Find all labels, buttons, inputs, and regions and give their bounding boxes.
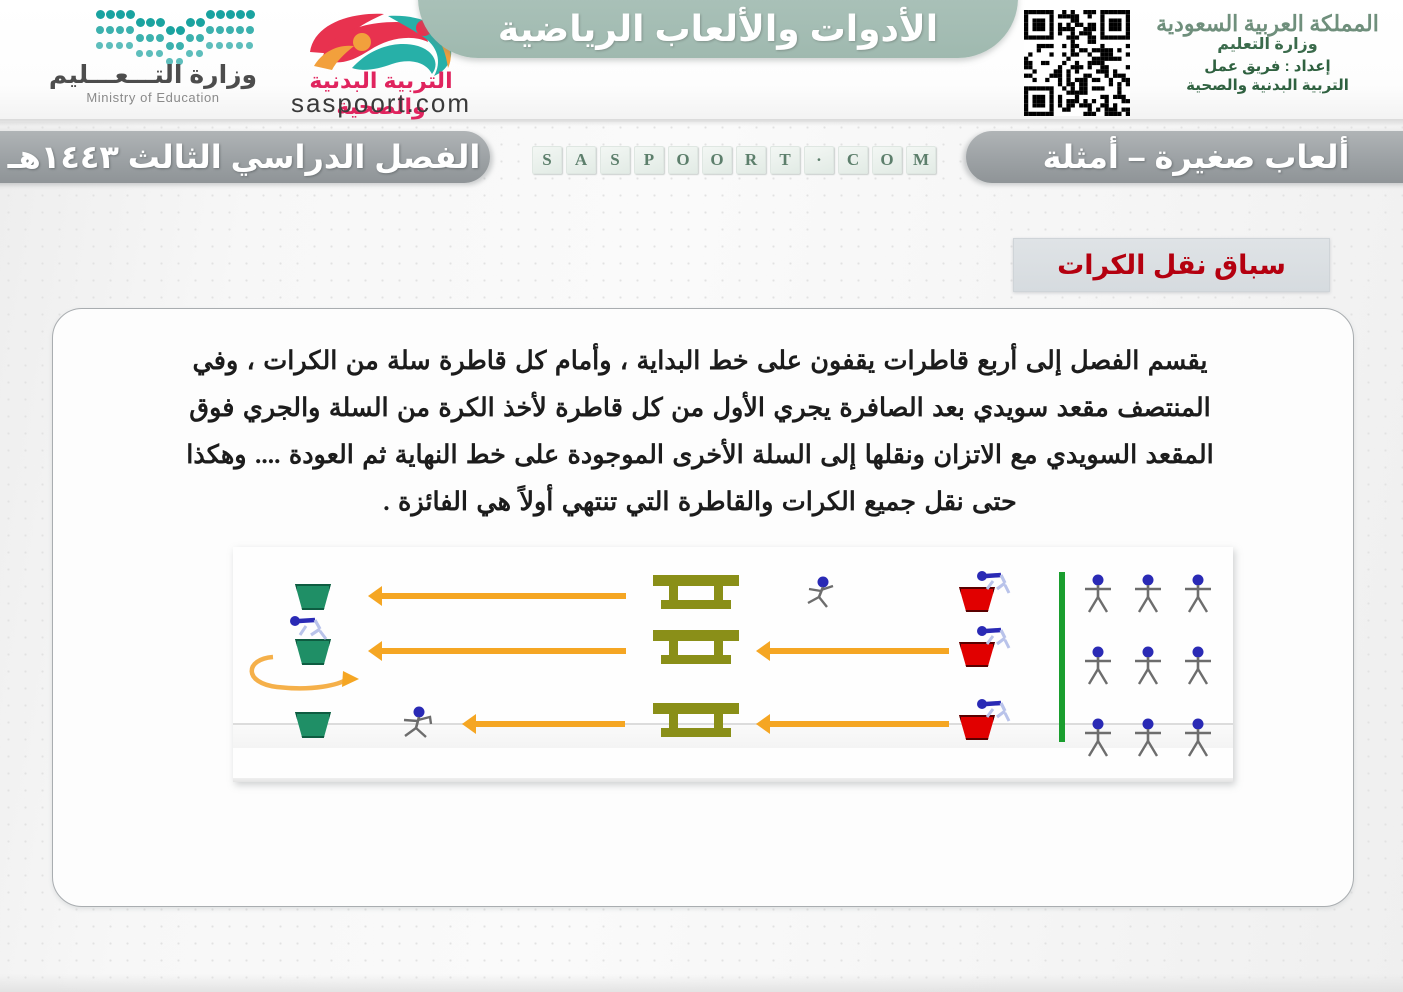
bending-player-figure xyxy=(975,624,1023,658)
logo-dot xyxy=(186,18,195,27)
logo-dot xyxy=(196,50,203,57)
logo-dot xyxy=(106,42,113,49)
bench-base xyxy=(661,600,731,609)
return-arrow xyxy=(475,721,625,727)
watermark-letter: O xyxy=(702,146,732,174)
outbound-arrow xyxy=(769,721,949,727)
section-heading-label: سباق نقل الكرات xyxy=(1057,250,1286,281)
sport-logo-url: saspoort.com xyxy=(256,88,506,119)
country-name: المملكة العربية السعودية xyxy=(1150,12,1385,36)
logo-dot xyxy=(226,10,235,19)
logo-dot xyxy=(176,42,184,50)
logo-dot xyxy=(116,10,125,19)
prepared-by-line: إعداد : فريق عمل xyxy=(1150,57,1385,75)
header-shadow xyxy=(0,119,1403,126)
ministry-name-arabic: وزارة التـــعـــليم xyxy=(48,62,258,88)
logo-dot xyxy=(206,42,213,49)
stick-figure xyxy=(1131,573,1165,615)
logo-dot xyxy=(196,34,204,42)
logo-dot xyxy=(206,10,215,19)
logo-dot xyxy=(236,42,243,49)
loop-arrow xyxy=(243,645,373,697)
logo-dot xyxy=(206,26,214,34)
logo-dot xyxy=(186,34,194,42)
ball-transfer-race-diagram xyxy=(233,547,1233,782)
watermark-letter: O xyxy=(872,146,902,174)
semester-badge: الفصل الدراسي الثالث ١٤٤٣هـ xyxy=(0,131,490,183)
logo-dot xyxy=(196,18,205,27)
logo-dot xyxy=(216,26,224,34)
watermark-letter: R xyxy=(736,146,766,174)
stick-figure xyxy=(1231,645,1233,687)
stick-figure xyxy=(1081,645,1115,687)
logo-dot xyxy=(146,50,153,57)
logo-dot xyxy=(176,26,185,35)
runner-stick-figure xyxy=(799,575,841,609)
watermark-letter: T xyxy=(770,146,800,174)
return-arrow xyxy=(381,593,626,599)
paragraph-line: يقسم الفصل إلى أربع قاطرات يقفون على خط … xyxy=(91,337,1309,384)
watermark-letter: O xyxy=(668,146,698,174)
stick-figure xyxy=(1131,645,1165,687)
moe-dots-logo xyxy=(96,10,256,64)
outbound-arrow xyxy=(769,648,949,654)
ministry-line: وزارة التعليم xyxy=(1150,34,1385,54)
logo-dot xyxy=(226,26,234,34)
logo-dot xyxy=(106,26,114,34)
logo-dot xyxy=(186,50,193,57)
bench-leg-right xyxy=(714,641,723,655)
paragraph-line: المقعد السويدي مع الاتزان ونقلها إلى الس… xyxy=(91,431,1309,478)
bench-top xyxy=(653,630,739,641)
logo-dot xyxy=(136,18,145,27)
bending-player-figure xyxy=(975,697,1023,731)
topic-label: ألعاب صغيرة – أمثلة xyxy=(1043,138,1350,176)
content-card: يقسم الفصل إلى أربع قاطرات يقفون على خط … xyxy=(52,308,1354,907)
bending-player-figure xyxy=(975,569,1023,603)
ministry-logo-text: وزارة التـــعـــليم Ministry of Educatio… xyxy=(48,62,258,105)
watermark-letter: S xyxy=(532,146,562,174)
logo-dot xyxy=(246,42,253,49)
watermark-letter: P xyxy=(634,146,664,174)
stick-figure xyxy=(1081,573,1115,615)
logo-dot xyxy=(166,26,175,35)
logo-dot xyxy=(156,18,165,27)
logo-dot xyxy=(96,10,105,19)
qr-code[interactable] xyxy=(1024,10,1130,116)
bench-leg-right xyxy=(714,714,723,728)
stick-figure xyxy=(1181,717,1215,759)
stick-figure xyxy=(1081,717,1115,759)
bench-leg-left xyxy=(669,586,678,600)
logo-dot xyxy=(166,42,174,50)
green-basket xyxy=(295,584,331,610)
stick-figure xyxy=(1131,717,1165,759)
return-arrow xyxy=(381,648,626,654)
paragraph-line: المنتصف مقعد سويدي بعد الصافرة يجري الأو… xyxy=(91,384,1309,431)
bench-leg-right xyxy=(714,586,723,600)
start-line xyxy=(1059,572,1065,742)
bench-leg-left xyxy=(669,641,678,655)
page-bottom-shade xyxy=(0,974,1403,992)
swedish-bench xyxy=(653,630,739,664)
watermark-letter: C xyxy=(838,146,868,174)
bending-player-figure xyxy=(287,611,343,645)
department-line: التربية البدنية والصحية xyxy=(1150,76,1385,94)
logo-dot xyxy=(156,50,163,57)
logo-dot xyxy=(236,10,245,19)
logo-dot xyxy=(106,10,115,19)
watermark-letter: A xyxy=(566,146,596,174)
section-heading: سباق نقل الكرات xyxy=(1013,238,1330,292)
logo-dot xyxy=(126,10,135,19)
bench-base xyxy=(661,728,731,737)
logo-dot xyxy=(136,34,144,42)
bench-top xyxy=(653,575,739,586)
logo-dot xyxy=(216,42,223,49)
logo-dot xyxy=(226,42,233,49)
semester-label: الفصل الدراسي الثالث ١٤٤٣هـ xyxy=(8,138,481,176)
logo-dot xyxy=(126,26,134,34)
stick-figure xyxy=(1181,645,1215,687)
logo-dot xyxy=(236,26,244,34)
topic-badge: ألعاب صغيرة – أمثلة xyxy=(966,131,1403,183)
logo-dot xyxy=(146,34,154,42)
site-watermark: SASPOORT·COM xyxy=(532,146,936,174)
ksa-info-block: المملكة العربية السعودية وزارة التعليم إ… xyxy=(1150,12,1385,94)
logo-dot xyxy=(146,18,155,27)
logo-dot xyxy=(96,26,104,34)
page-title: الأدوات والألعاب الرياضية xyxy=(418,8,1018,50)
activity-description: يقسم الفصل إلى أربع قاطرات يقفون على خط … xyxy=(91,337,1309,525)
logo-dot xyxy=(116,26,124,34)
logo-dot xyxy=(96,42,103,49)
swedish-bench xyxy=(653,703,739,737)
watermark-letter: · xyxy=(804,146,834,174)
stick-figure xyxy=(1231,573,1233,615)
stick-figure xyxy=(1181,573,1215,615)
bench-top xyxy=(653,703,739,714)
logo-dot xyxy=(246,26,254,34)
bench-base xyxy=(661,655,731,664)
logo-dot xyxy=(126,42,133,49)
bench-leg-left xyxy=(669,714,678,728)
watermark-letter: M xyxy=(906,146,936,174)
swedish-bench xyxy=(653,575,739,609)
logo-dot xyxy=(116,42,123,49)
runner-stick-figure xyxy=(397,705,441,741)
watermark-letter: S xyxy=(600,146,630,174)
paragraph-line: حتى نقل جميع الكرات والقاطرة التي تنتهي … xyxy=(91,478,1309,525)
page-header: وزارة التـــعـــليم Ministry of Educatio… xyxy=(0,0,1403,128)
ministry-name-english: Ministry of Education xyxy=(48,90,258,105)
stick-figure xyxy=(1231,717,1233,759)
logo-dot xyxy=(136,50,143,57)
logo-dot xyxy=(216,10,225,19)
diagram-bottom-edge xyxy=(233,778,1233,782)
title-banner: الأدوات والألعاب الرياضية xyxy=(418,0,1018,58)
logo-dot xyxy=(246,10,255,19)
logo-dot xyxy=(156,34,164,42)
